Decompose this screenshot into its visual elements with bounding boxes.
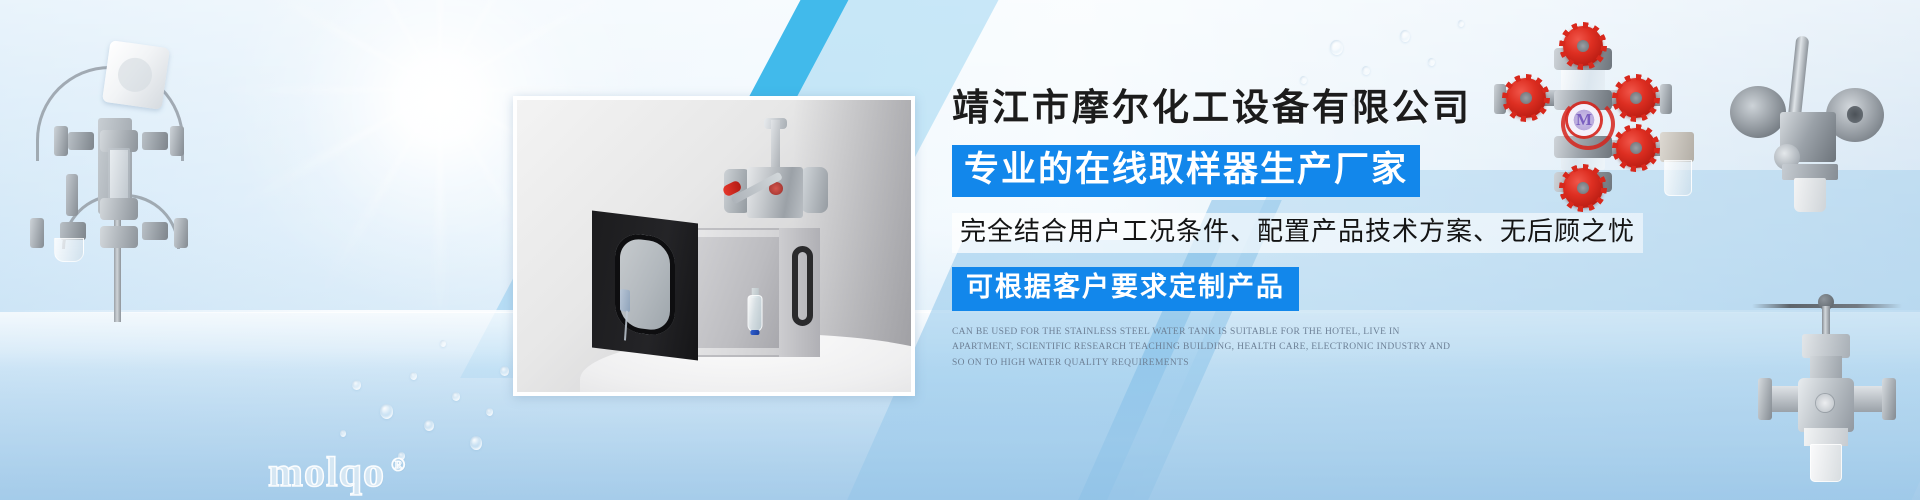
valve-block xyxy=(142,222,168,240)
flange-left xyxy=(1758,378,1772,420)
headline-secondary: 可根据客户要求定制产品 xyxy=(952,267,1299,311)
valve-badge xyxy=(1816,394,1834,412)
valve-flange-right xyxy=(801,167,829,214)
handwheel-icon xyxy=(1563,26,1603,66)
bottle-cap-blue xyxy=(751,330,760,335)
valve-block xyxy=(68,132,94,150)
promotional-banner: 靖江市摩尔化工设备有限公司 专业的在线取样器生产厂家 完全结合用户工况条件、配置… xyxy=(0,0,1920,500)
flange-right xyxy=(1882,378,1896,420)
valve-stem xyxy=(771,120,781,174)
cabinet-cavity xyxy=(698,237,779,347)
sampler-valve-head xyxy=(722,118,828,235)
hub xyxy=(100,226,138,248)
cabinet-gasket xyxy=(792,246,813,326)
cabinet-door xyxy=(592,210,698,360)
sample-bottle xyxy=(748,295,763,332)
flange xyxy=(170,126,184,156)
company-name: 靖江市摩尔化工设备有限公司 xyxy=(952,88,1712,131)
flange-left xyxy=(1730,86,1786,138)
control-enclosure xyxy=(102,40,170,110)
subline-text: 完全结合用户工况条件、配置产品技术方案、无后顾之忧 xyxy=(952,213,1643,253)
relief-valve xyxy=(66,174,78,216)
english-description: CAN BE USED FOR THE STAINLESS STEEL WATE… xyxy=(952,325,1452,372)
watermark-text: molqo xyxy=(268,450,385,496)
sample-bottle xyxy=(54,238,84,262)
product-sampling-valve-assembly xyxy=(10,22,200,322)
product-lever-sampling-valve xyxy=(1718,30,1898,230)
sample-tube xyxy=(1810,444,1842,482)
flange xyxy=(30,218,44,248)
sight-glass xyxy=(108,148,130,202)
product-gate-valve xyxy=(1762,282,1912,482)
registered-mark-icon: ® xyxy=(391,455,406,476)
product-photo-image xyxy=(517,100,911,392)
product-photo xyxy=(513,96,915,396)
valve-bonnet xyxy=(1802,334,1850,358)
sampler-cabinet xyxy=(690,228,820,356)
door-latch xyxy=(620,289,631,312)
lever-handle xyxy=(1788,36,1810,121)
flange xyxy=(54,126,68,156)
hub xyxy=(100,198,138,220)
brand-watermark: molqo® xyxy=(268,452,406,494)
sample-cup xyxy=(1794,178,1826,212)
flange xyxy=(174,218,188,248)
headline-primary: 专业的在线取样器生产厂家 xyxy=(952,145,1420,198)
door-window xyxy=(615,231,675,337)
banner-text-block: 靖江市摩尔化工设备有限公司 专业的在线取样器生产厂家 完全结合用户工况条件、配置… xyxy=(952,88,1712,372)
valve-block xyxy=(142,132,168,150)
